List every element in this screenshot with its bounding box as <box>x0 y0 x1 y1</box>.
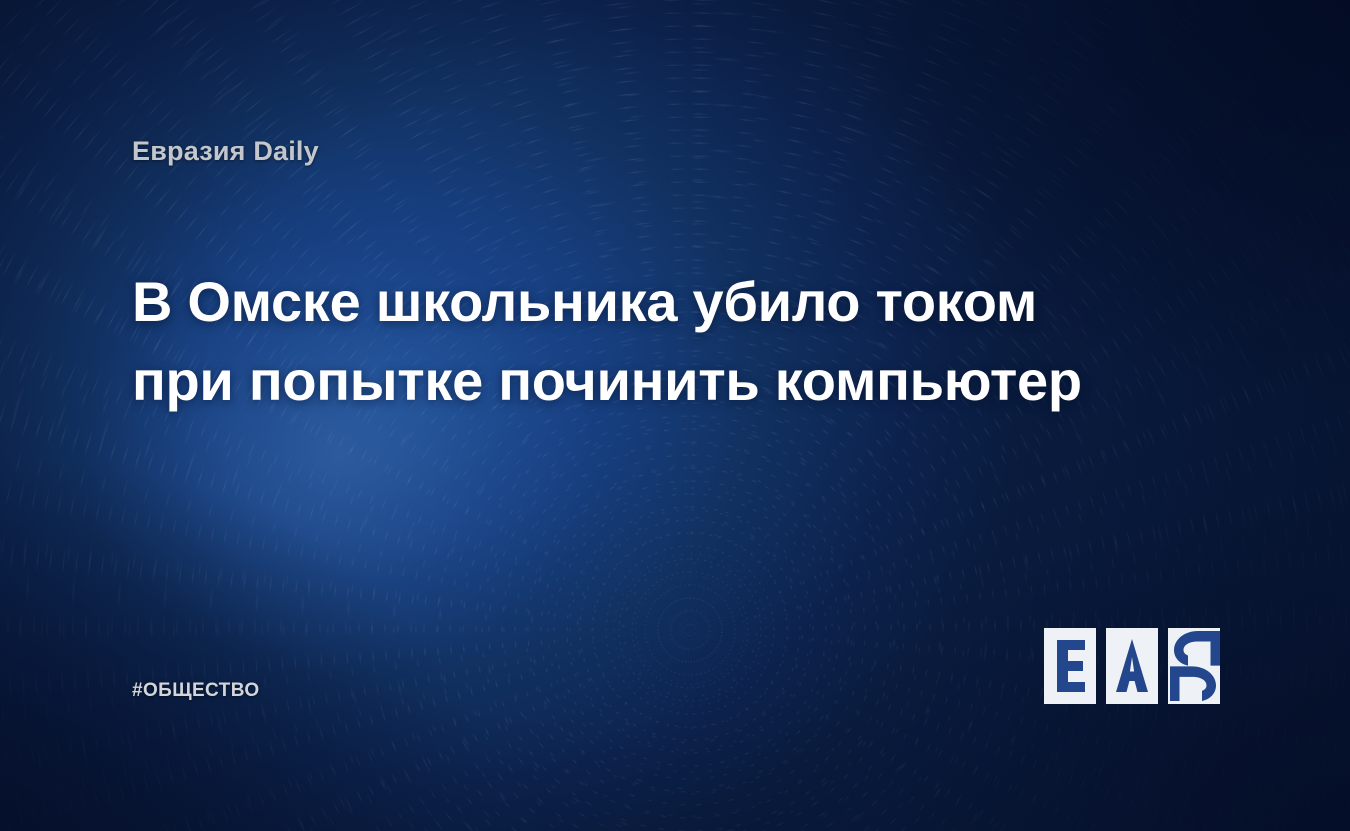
logo-letter-a-icon <box>1106 628 1158 704</box>
site-name: Евразия Daily <box>132 136 319 167</box>
category-tag[interactable]: #ОБЩЕСТВО <box>132 680 260 702</box>
page-title: В Омске школьника убило током при попытк… <box>132 262 1142 420</box>
ead-logo[interactable] <box>1044 628 1220 704</box>
news-share-card: Евразия Daily В Омске школьника убило то… <box>0 0 1350 831</box>
logo-letter-d-icon <box>1154 628 1234 704</box>
logo-letter-e-icon <box>1044 628 1096 704</box>
card-content: Евразия Daily В Омске школьника убило то… <box>0 0 1350 831</box>
